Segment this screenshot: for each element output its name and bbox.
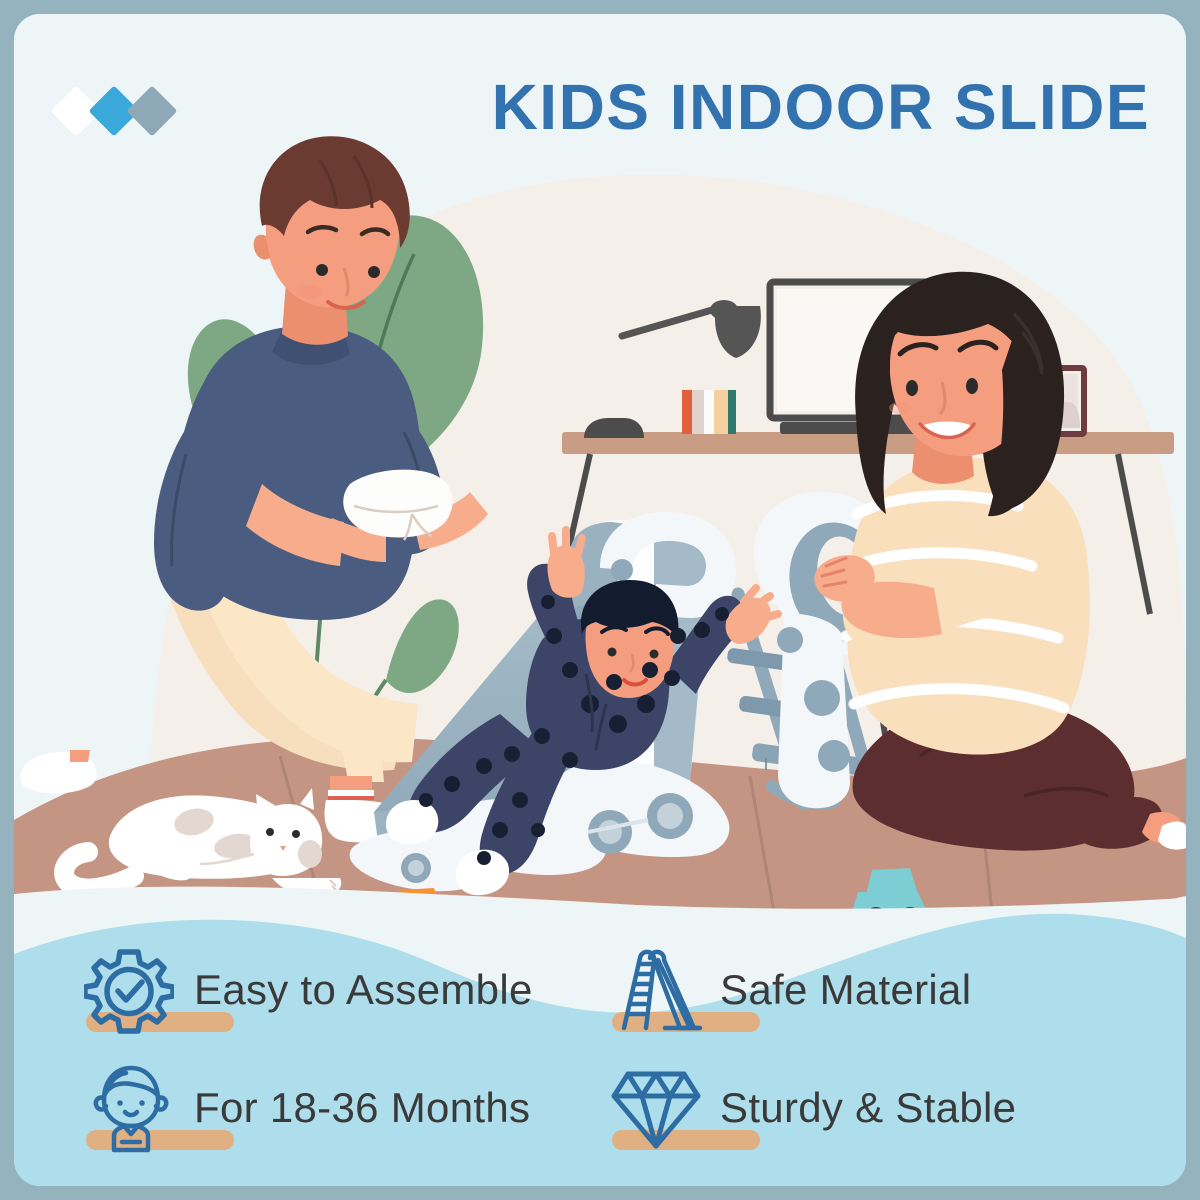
infographic-canvas: KIDS INDOOR SLIDE Easy	[14, 14, 1186, 1186]
child-face-icon	[84, 1062, 174, 1154]
feature-easy-to-assemble: Easy to Assemble	[84, 931, 610, 1049]
infographic-page: KIDS INDOOR SLIDE Easy	[0, 0, 1200, 1200]
header: KIDS INDOOR SLIDE	[14, 14, 1186, 164]
feature-safe-material: Safe Material	[610, 931, 1136, 1049]
diamond-gem-icon	[610, 1062, 700, 1154]
mother-eye-right	[966, 378, 978, 394]
books	[682, 390, 736, 434]
slide-screw-c	[777, 627, 803, 653]
cat-eye-right	[292, 830, 300, 838]
slide-ladder-icon	[610, 944, 700, 1036]
father-eye-left	[316, 264, 328, 276]
feature-label: Easy to Assemble	[194, 966, 533, 1014]
father-ankle	[330, 776, 372, 792]
feature-label: Sturdy & Stable	[720, 1084, 1016, 1132]
feature-sturdy-stable: Sturdy & Stable	[610, 1049, 1136, 1167]
cat-eye-left	[266, 828, 274, 836]
feature-panel: Easy to Assemble	[14, 876, 1186, 1186]
slide-screw-b	[818, 740, 850, 772]
mother-eye-left	[906, 380, 918, 396]
page-title: KIDS INDOOR SLIDE	[492, 70, 1150, 144]
slide-screw-f	[611, 559, 633, 581]
child-eye-right	[650, 650, 659, 659]
child-eye-left	[608, 648, 617, 657]
gear-check-icon	[84, 944, 174, 1036]
feature-list: Easy to Assemble	[14, 931, 1186, 1167]
father-eye-right	[368, 266, 380, 278]
diamond-gray-icon	[127, 86, 178, 137]
feature-age-range: For 18-36 Months	[84, 1049, 610, 1167]
feature-label: For 18-36 Months	[194, 1084, 530, 1132]
father-box	[343, 470, 452, 538]
feature-label: Safe Material	[720, 966, 971, 1014]
slide-screw-a	[804, 680, 840, 716]
logo-marks	[52, 86, 192, 138]
